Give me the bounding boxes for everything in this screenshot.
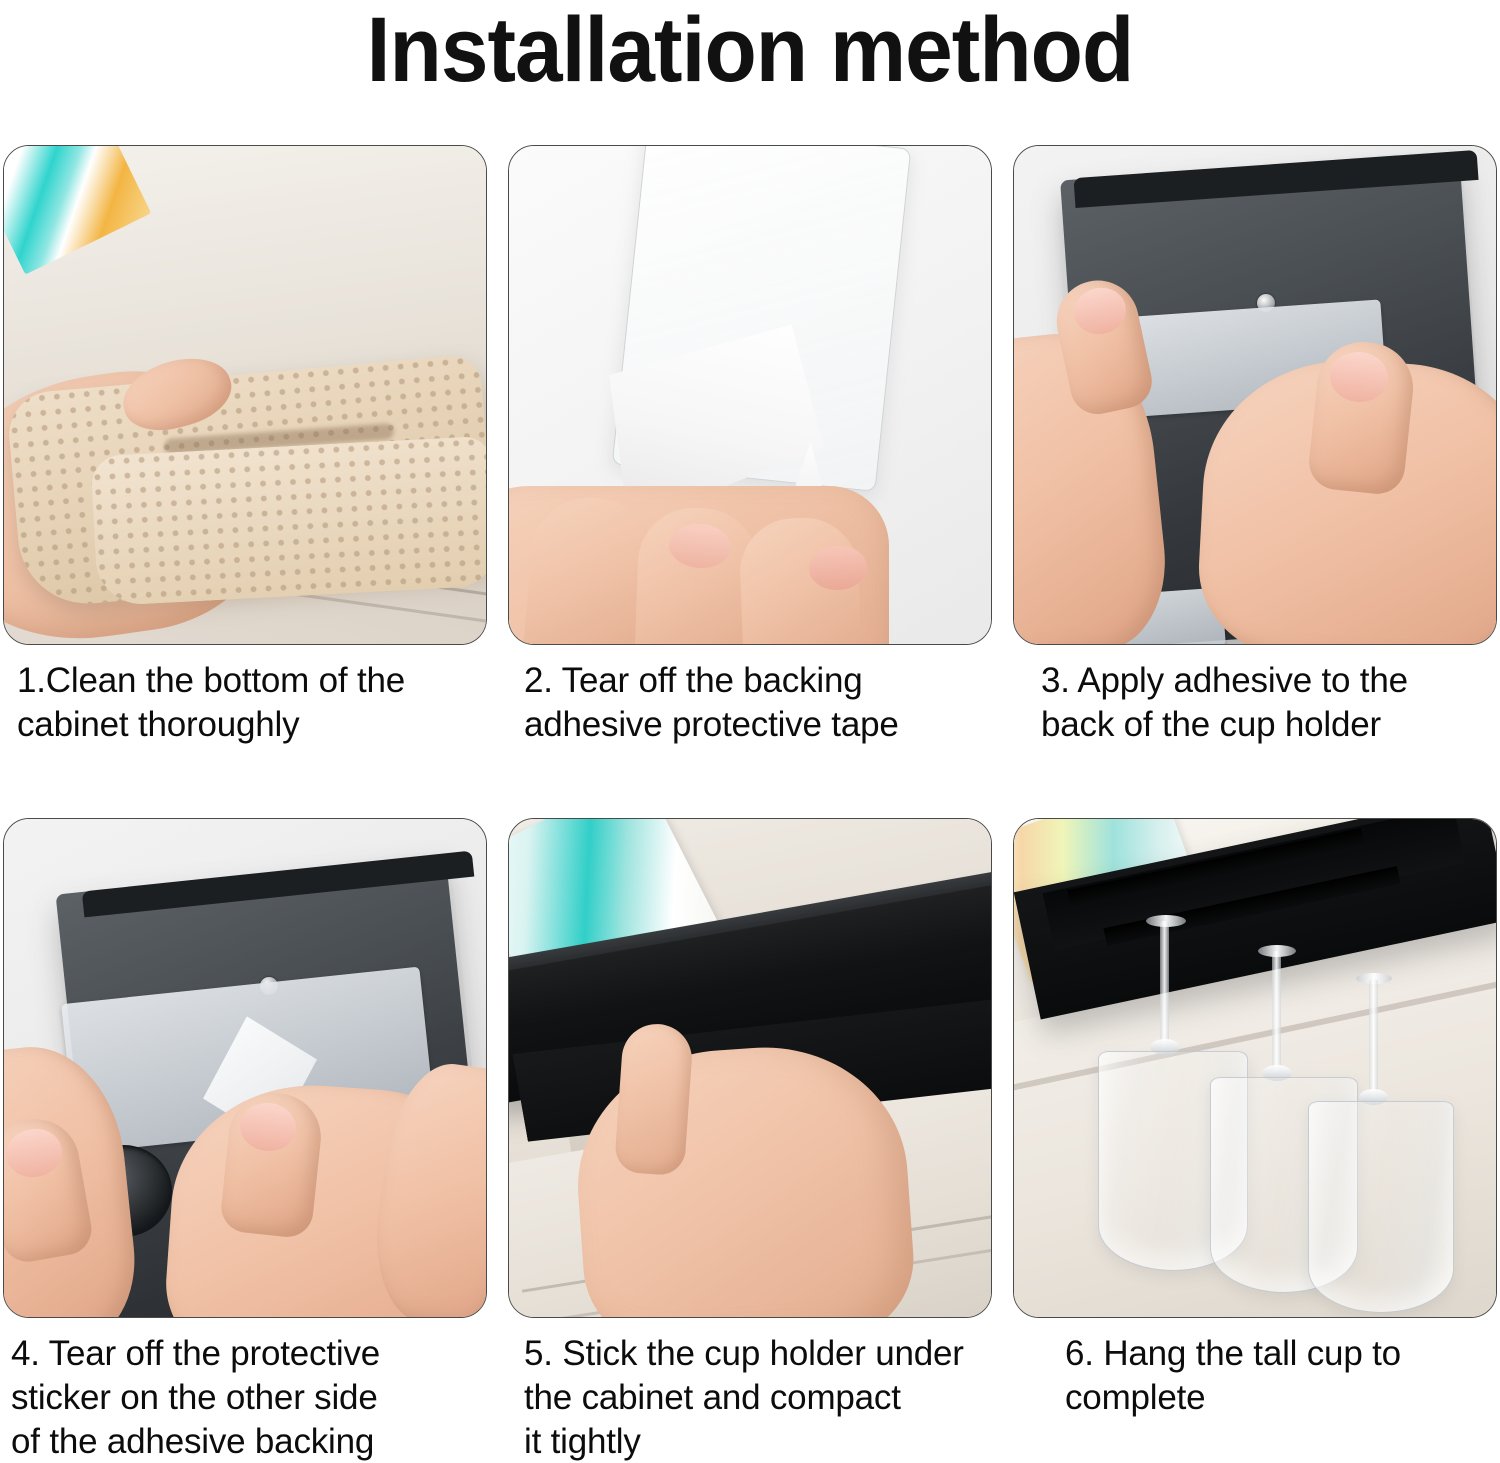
- installation-method-infographic: Installation method 1.Clean the bottom o…: [0, 0, 1500, 1463]
- step-card-4: 4. Tear off the protective sticker on th…: [3, 818, 487, 1463]
- step-4-peel-protective-sticker-photo: [3, 818, 487, 1318]
- step-5-caption: 5. Stick the cup holder under the cabine…: [508, 1332, 992, 1463]
- step-5-stick-under-cabinet-photo: [508, 818, 992, 1318]
- step-2-tear-backing-tape-photo: [508, 145, 992, 645]
- step-card-3: 3. Apply adhesive to the back of the cup…: [1013, 145, 1497, 747]
- step-card-2: 2. Tear off the backing adhesive protect…: [508, 145, 992, 747]
- steps-row-1: 1.Clean the bottom of the cabinet thorou…: [3, 145, 1487, 747]
- step-1-clean-cabinet-bottom-photo: [3, 145, 487, 645]
- wine-glass: [1314, 971, 1497, 1318]
- step-card-5: 5. Stick the cup holder under the cabine…: [508, 818, 992, 1463]
- step-3-apply-adhesive-photo: [1013, 145, 1497, 645]
- step-6-caption: 6. Hang the tall cup to complete: [1013, 1332, 1497, 1420]
- step-6-hang-glasses-photo: [1013, 818, 1497, 1318]
- step-card-1: 1.Clean the bottom of the cabinet thorou…: [3, 145, 487, 747]
- step-1-caption: 1.Clean the bottom of the cabinet thorou…: [3, 659, 487, 747]
- steps-row-2: 4. Tear off the protective sticker on th…: [3, 818, 1487, 1463]
- step-3-caption: 3. Apply adhesive to the back of the cup…: [1013, 659, 1497, 747]
- step-card-6: 6. Hang the tall cup to complete: [1013, 818, 1497, 1463]
- step-2-caption: 2. Tear off the backing adhesive protect…: [508, 659, 992, 747]
- step-4-caption: 4. Tear off the protective sticker on th…: [3, 1332, 487, 1463]
- page-title: Installation method: [53, 0, 1448, 104]
